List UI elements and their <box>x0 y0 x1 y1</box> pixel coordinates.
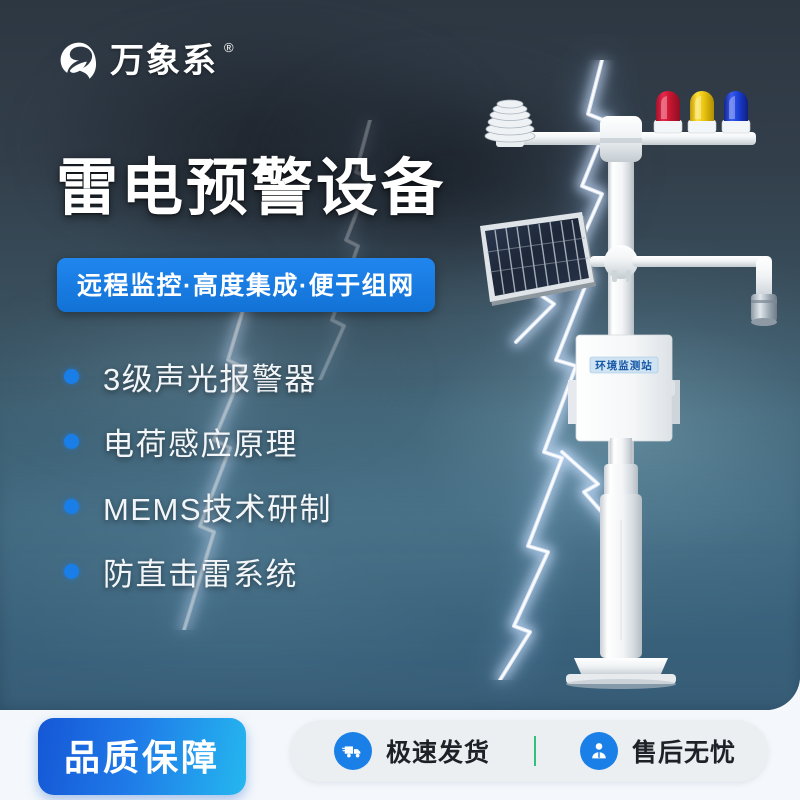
service-divider <box>534 736 536 766</box>
feature-label: 电荷感应原理 <box>103 419 298 464</box>
subtitle-bar: 远程监控·高度集成·便于组网 <box>57 258 435 312</box>
support-agent-icon <box>580 732 618 770</box>
service-fast-shipping: 极速发货 <box>334 732 490 770</box>
hero-background: 环境监测站 万象系 ® 雷电预警 <box>0 0 800 710</box>
list-item: 3级声光报警器 <box>64 345 332 407</box>
service-label: 极速发货 <box>386 733 490 769</box>
feature-list: 3级声光报警器 电荷感应原理 MEMS技术研制 防直击雷系统 <box>64 345 332 605</box>
bullet-dot-icon <box>64 369 79 384</box>
bullet-dot-icon <box>64 564 79 579</box>
bullet-dot-icon <box>64 499 79 514</box>
control-box: 环境监测站 <box>568 335 680 441</box>
quality-badge: 品质保障 <box>38 718 246 795</box>
feature-label: 防直击雷系统 <box>103 549 298 594</box>
list-item: 防直击雷系统 <box>64 540 332 602</box>
yellow-alarm-lamp <box>688 91 716 133</box>
service-after-sales: 售后无忧 <box>580 732 736 770</box>
registered-mark: ® <box>224 40 234 55</box>
alarm-lamp-assembly <box>646 91 756 145</box>
lightning-warning-device: 环境监测站 <box>440 80 800 700</box>
control-box-label: 环境监测站 <box>595 359 653 372</box>
brand-name: 万象系 <box>110 44 218 78</box>
page-title: 雷电预警设备 <box>56 157 446 221</box>
bullet-dot-icon <box>64 434 79 449</box>
service-label: 售后无忧 <box>632 733 736 769</box>
list-item: 电荷感应原理 <box>64 410 332 472</box>
downward-sensor-arm <box>632 256 777 326</box>
feature-label: 3级声光报警器 <box>103 354 317 399</box>
service-pill: 极速发货 售后无忧 <box>290 720 768 782</box>
feature-label: MEMS技术研制 <box>103 484 332 529</box>
delivery-truck-icon <box>334 732 372 770</box>
telescopic-mast <box>600 438 642 658</box>
list-item: MEMS技术研制 <box>64 475 332 537</box>
promo-poster: 环境监测站 万象系 ® 雷电预警 <box>0 0 800 800</box>
red-alarm-lamp <box>654 91 682 133</box>
base-plate <box>566 658 676 689</box>
swirl-globe-logo-icon <box>58 40 100 82</box>
radiation-shield-sensor <box>485 100 535 147</box>
footer-bar: 品质保障 极速发货 <box>0 708 800 800</box>
brand-logo: 万象系 ® <box>58 40 238 82</box>
blue-alarm-lamp <box>722 91 750 133</box>
